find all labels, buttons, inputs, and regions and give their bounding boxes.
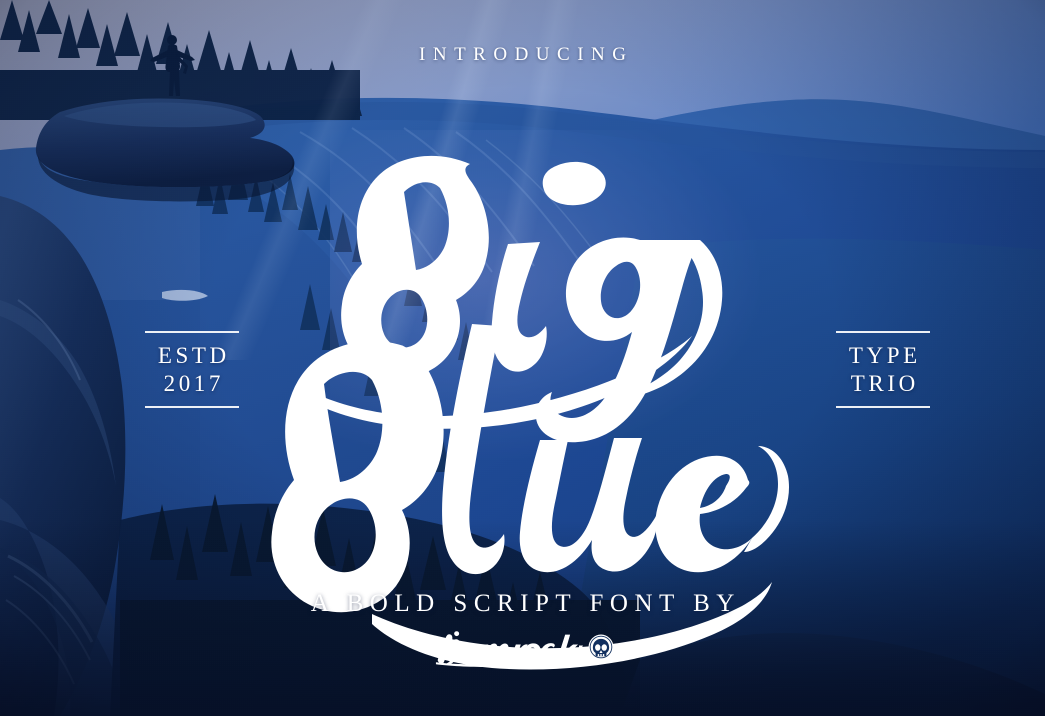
font-promo-poster: INTRODUCING ESTD 2017 TYPE TRIO — [0, 0, 1045, 716]
kicker-introducing: INTRODUCING — [0, 44, 1045, 66]
wordmark-line-big — [300, 156, 722, 442]
foundry-wordmark-ijemrockart: Ijemrockart — [431, 629, 579, 665]
tagline-text: A BOLD SCRIPT FONT BY — [0, 590, 1045, 618]
poster-content: INTRODUCING ESTD 2017 TYPE TRIO — [0, 0, 1045, 716]
skull-badge-icon — [588, 634, 614, 660]
foundry-signature-row: Ijemrockart — [0, 629, 1045, 665]
wordmark-big-blue — [0, 128, 1045, 548]
wordmark-artwork — [0, 128, 1045, 548]
